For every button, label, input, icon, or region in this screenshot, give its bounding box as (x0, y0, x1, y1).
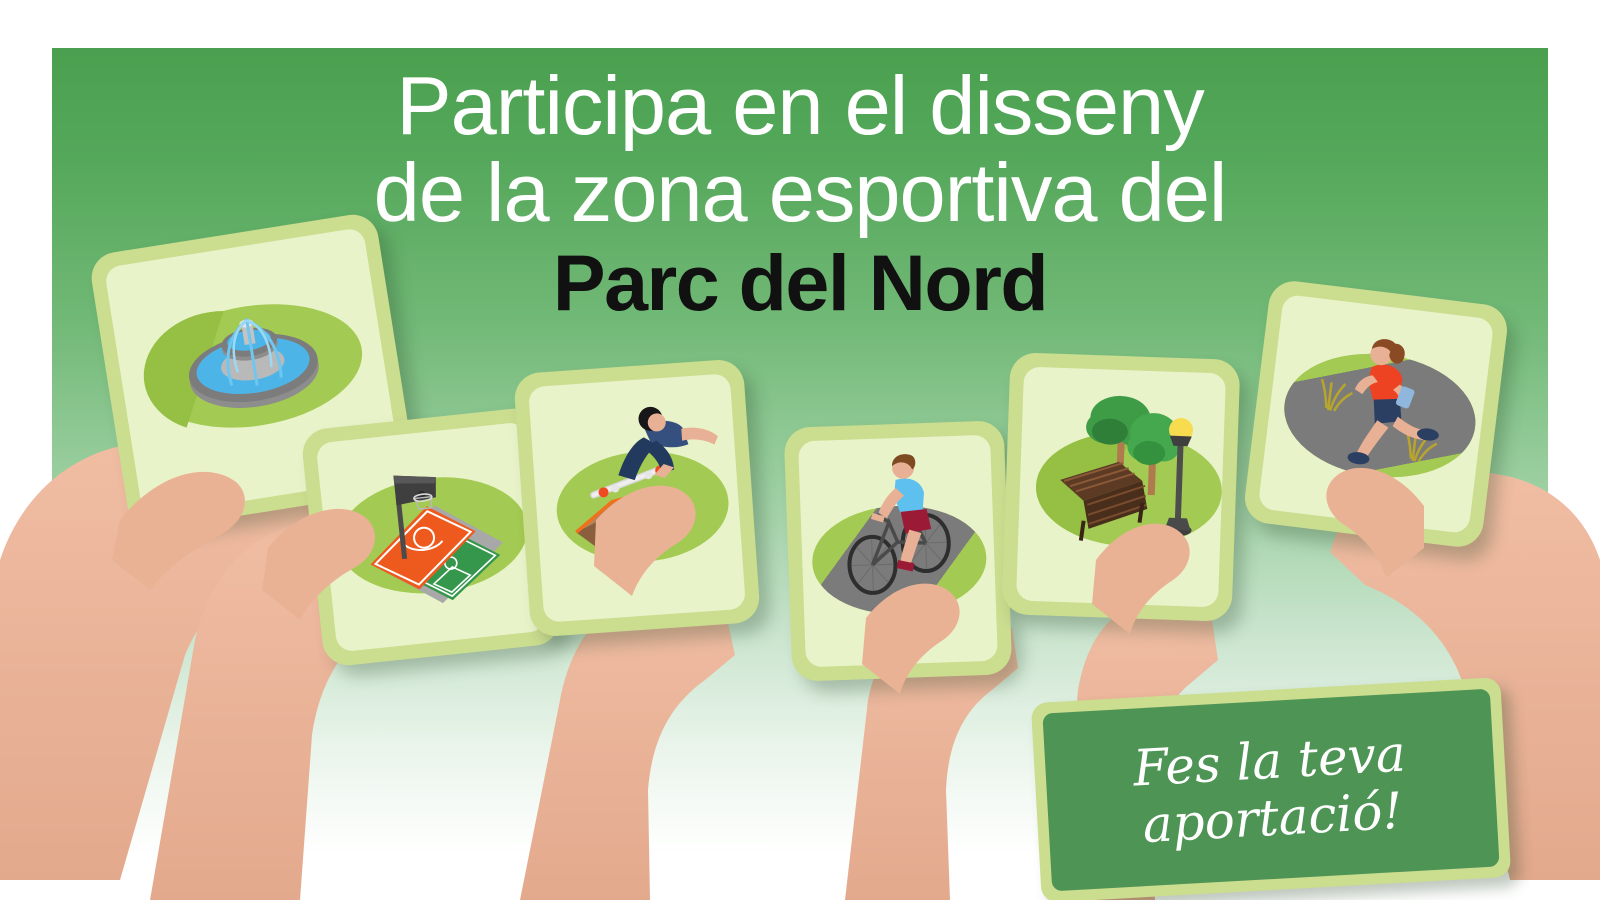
footer: Ajuntament de Sabadell Hi col·labora: (0, 782, 1600, 862)
runner-icon (1258, 294, 1495, 534)
card-face (798, 435, 998, 668)
card-face (1258, 294, 1495, 534)
card-face (316, 422, 547, 653)
card-bench[interactable] (1001, 352, 1240, 622)
card-runner[interactable] (1242, 278, 1510, 549)
poster-canvas: Participa en el disseny de la zona espor… (0, 0, 1600, 900)
card-skate[interactable] (513, 358, 761, 637)
sports-court-icon (316, 422, 547, 653)
skate-ramp-icon (528, 373, 746, 623)
card-face (528, 373, 746, 623)
card-face (1016, 367, 1226, 608)
park-bench-icon (1016, 367, 1226, 608)
cyclist-icon (798, 435, 998, 668)
card-bike[interactable] (784, 420, 1013, 682)
